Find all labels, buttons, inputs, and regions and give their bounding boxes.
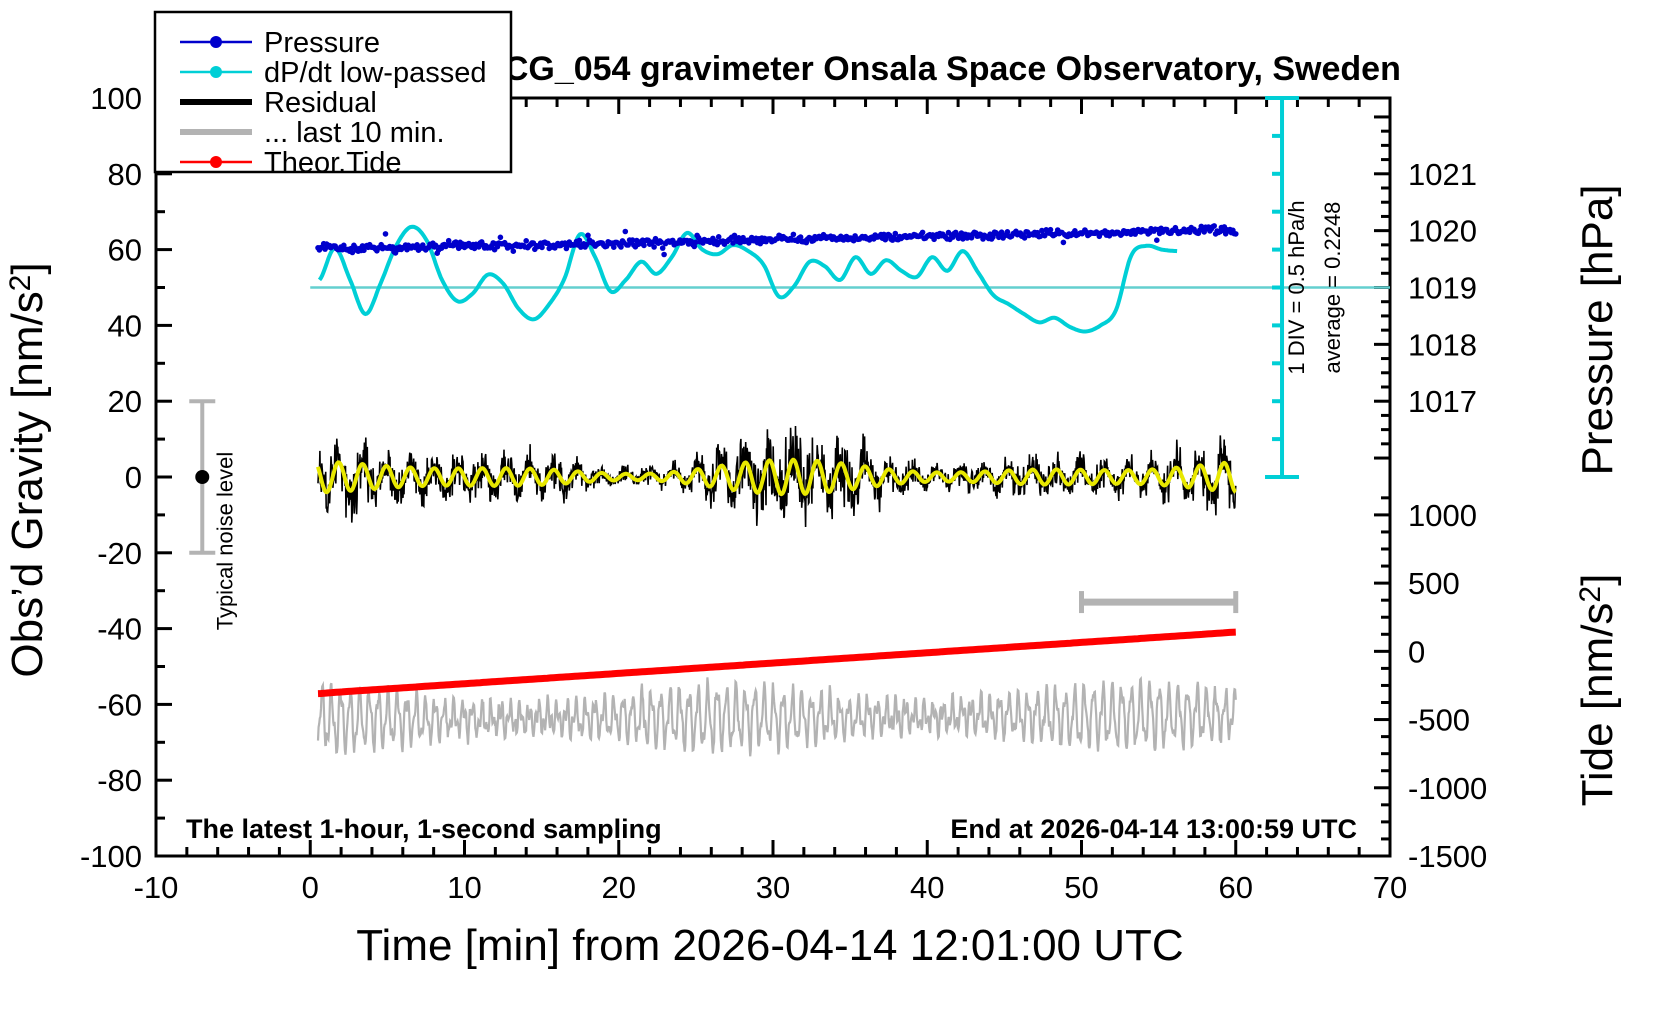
y-axis-label-left: Obs’d Gravity [nm/s2] — [3, 262, 52, 677]
y-tick-label-tide: -1000 — [1408, 771, 1487, 806]
y-tick-label-pressure: 1019 — [1408, 271, 1477, 306]
x-tick-label: 10 — [447, 870, 481, 905]
y-axis-label-right-top: Pressure [hPa] — [1573, 184, 1622, 475]
y-tick-label-left: 100 — [90, 81, 142, 116]
x-axis-label: Time [min] from 2026-04-14 12:01:00 UTC — [356, 921, 1183, 970]
y-tick-label-left: 0 — [125, 460, 142, 495]
legend-label: dP/dt low-passed — [264, 57, 486, 89]
y-tick-label-left: -40 — [97, 612, 142, 647]
y-tick-label-pressure: 1021 — [1408, 157, 1477, 192]
y-tick-label-pressure: 1018 — [1408, 327, 1477, 362]
y-tick-label-left: 20 — [108, 384, 142, 419]
x-tick-label: 50 — [1064, 870, 1098, 905]
x-tick-label: 30 — [756, 870, 790, 905]
x-tick-label: 60 — [1219, 870, 1253, 905]
y-tick-label-left: -80 — [97, 763, 142, 798]
y-tick-label-left: 80 — [108, 157, 142, 192]
legend-label: ... last 10 min. — [264, 117, 445, 149]
gravimeter-chart: -10010203040506070-100-80-60-40-20020406… — [0, 0, 1660, 1020]
typical-noise-level-label: Typical noise level — [212, 452, 237, 631]
x-tick-label: 0 — [302, 870, 319, 905]
y-axis-label-right-bottom: Tide [nm/s2] — [1573, 574, 1622, 807]
y-tick-label-pressure: 1017 — [1408, 384, 1477, 419]
y-tick-label-left: 40 — [108, 308, 142, 343]
y-tick-label-left: -60 — [97, 687, 142, 722]
x-tick-label: 20 — [602, 870, 636, 905]
y-tick-label-left: -20 — [97, 536, 142, 571]
chart-title: SCG_054 gravimeter Onsala Space Observat… — [481, 50, 1401, 88]
y-tick-label-tide: 1000 — [1408, 498, 1477, 533]
x-tick-label: 40 — [910, 870, 944, 905]
legend-label: Theor.Tide — [264, 147, 402, 179]
annotation-bottom-right: End at 2026-04-14 13:00:59 UTC — [950, 814, 1357, 844]
scale-bar-average-label: average = 0.2248 — [1320, 202, 1345, 374]
legend-label: Pressure — [264, 27, 380, 59]
y-tick-label-left: -100 — [80, 839, 142, 874]
scale-bar-div-label: 1 DIV = 0.5 hPa/h — [1284, 200, 1309, 374]
x-tick-label: -10 — [134, 870, 179, 905]
y-tick-label-tide: 0 — [1408, 634, 1425, 669]
y-tick-label-tide: -1500 — [1408, 839, 1487, 874]
annotation-bottom-left: The latest 1-hour, 1-second sampling — [186, 814, 662, 844]
y-tick-label-left: 60 — [108, 233, 142, 268]
legend-label: Residual — [264, 87, 377, 119]
y-tick-label-tide: 500 — [1408, 566, 1460, 601]
chart-root: -10010203040506070-100-80-60-40-20020406… — [0, 0, 1660, 1020]
x-tick-label: 70 — [1373, 870, 1407, 905]
y-tick-label-pressure: 1020 — [1408, 214, 1477, 249]
legend[interactable]: PressuredP/dt low-passedResidual... last… — [155, 12, 511, 179]
y-tick-label-tide: -500 — [1408, 703, 1470, 738]
